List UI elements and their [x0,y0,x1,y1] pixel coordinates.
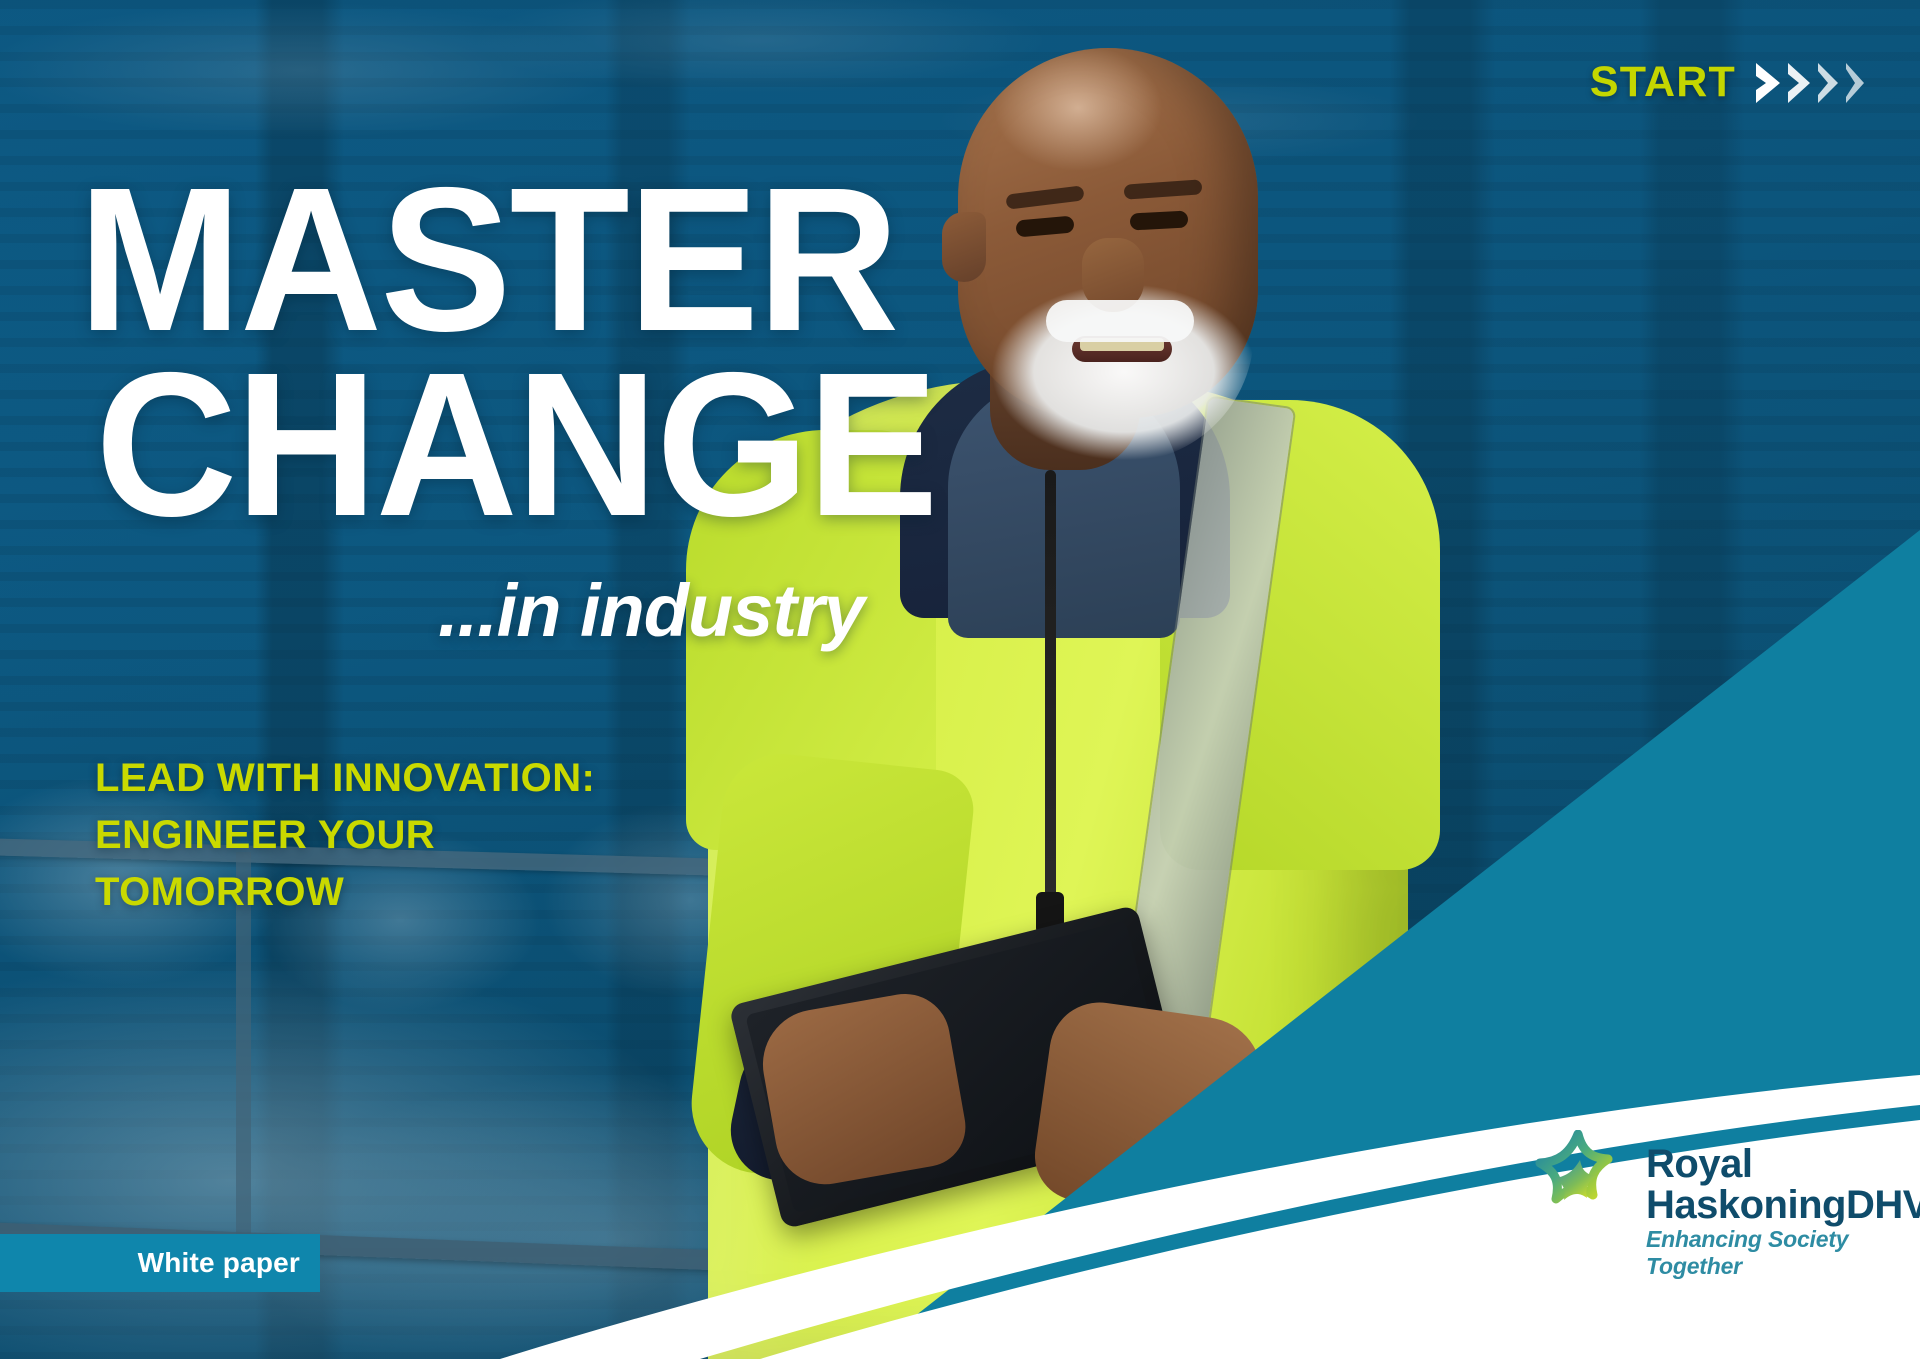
eye-right [1130,210,1189,230]
tagline-line-2: ENGINEER YOUR [95,807,595,864]
white-paper-badge-label: White paper [138,1247,300,1279]
tagline-line-1: LEAD WITH INNOVATION: [95,750,595,807]
logo-wordmark: Royal HaskoningDHV Enhancing Society Tog… [1646,1130,1920,1280]
royal-haskoningdhv-star-icon [1528,1130,1632,1239]
white-paper-badge: White paper [0,1234,320,1292]
page-subtitle: ...in industry [438,568,864,653]
logo-name-line-1: Royal [1646,1142,1752,1186]
logo: Royal HaskoningDHV Enhancing Society Tog… [1528,1130,1920,1280]
logo-name-line-2: HaskoningDHV [1646,1183,1920,1227]
hand-right [1029,996,1270,1224]
start-button-label: START [1590,58,1736,107]
tagline: LEAD WITH INNOVATION: ENGINEER YOUR TOMO… [95,750,595,920]
title-line-2: CHANGE [95,353,936,538]
page-title: MASTER CHANGE [78,168,937,537]
chevron-right-icon [1754,60,1882,106]
logo-tagline: Enhancing Society Together [1646,1226,1848,1279]
start-button[interactable]: START [1590,58,1882,107]
vest-zipper [1045,470,1056,900]
hand-left [754,987,972,1192]
moustache [1046,300,1194,342]
ear [942,212,986,282]
white-paper-cover: MASTER CHANGE [0,0,1920,1359]
tagline-line-3: TOMORROW [95,864,595,921]
